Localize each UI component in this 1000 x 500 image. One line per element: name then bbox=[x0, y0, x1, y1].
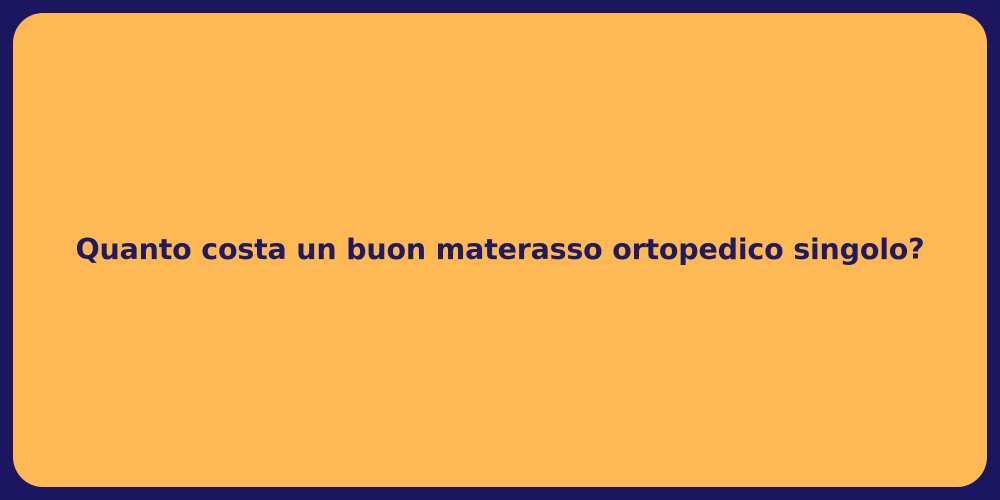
question-card: Quanto costa un buon materasso ortopedic… bbox=[13, 13, 987, 487]
page-background: Quanto costa un buon materasso ortopedic… bbox=[0, 0, 1000, 500]
headline-text: Quanto costa un buon materasso ortopedic… bbox=[36, 233, 965, 267]
